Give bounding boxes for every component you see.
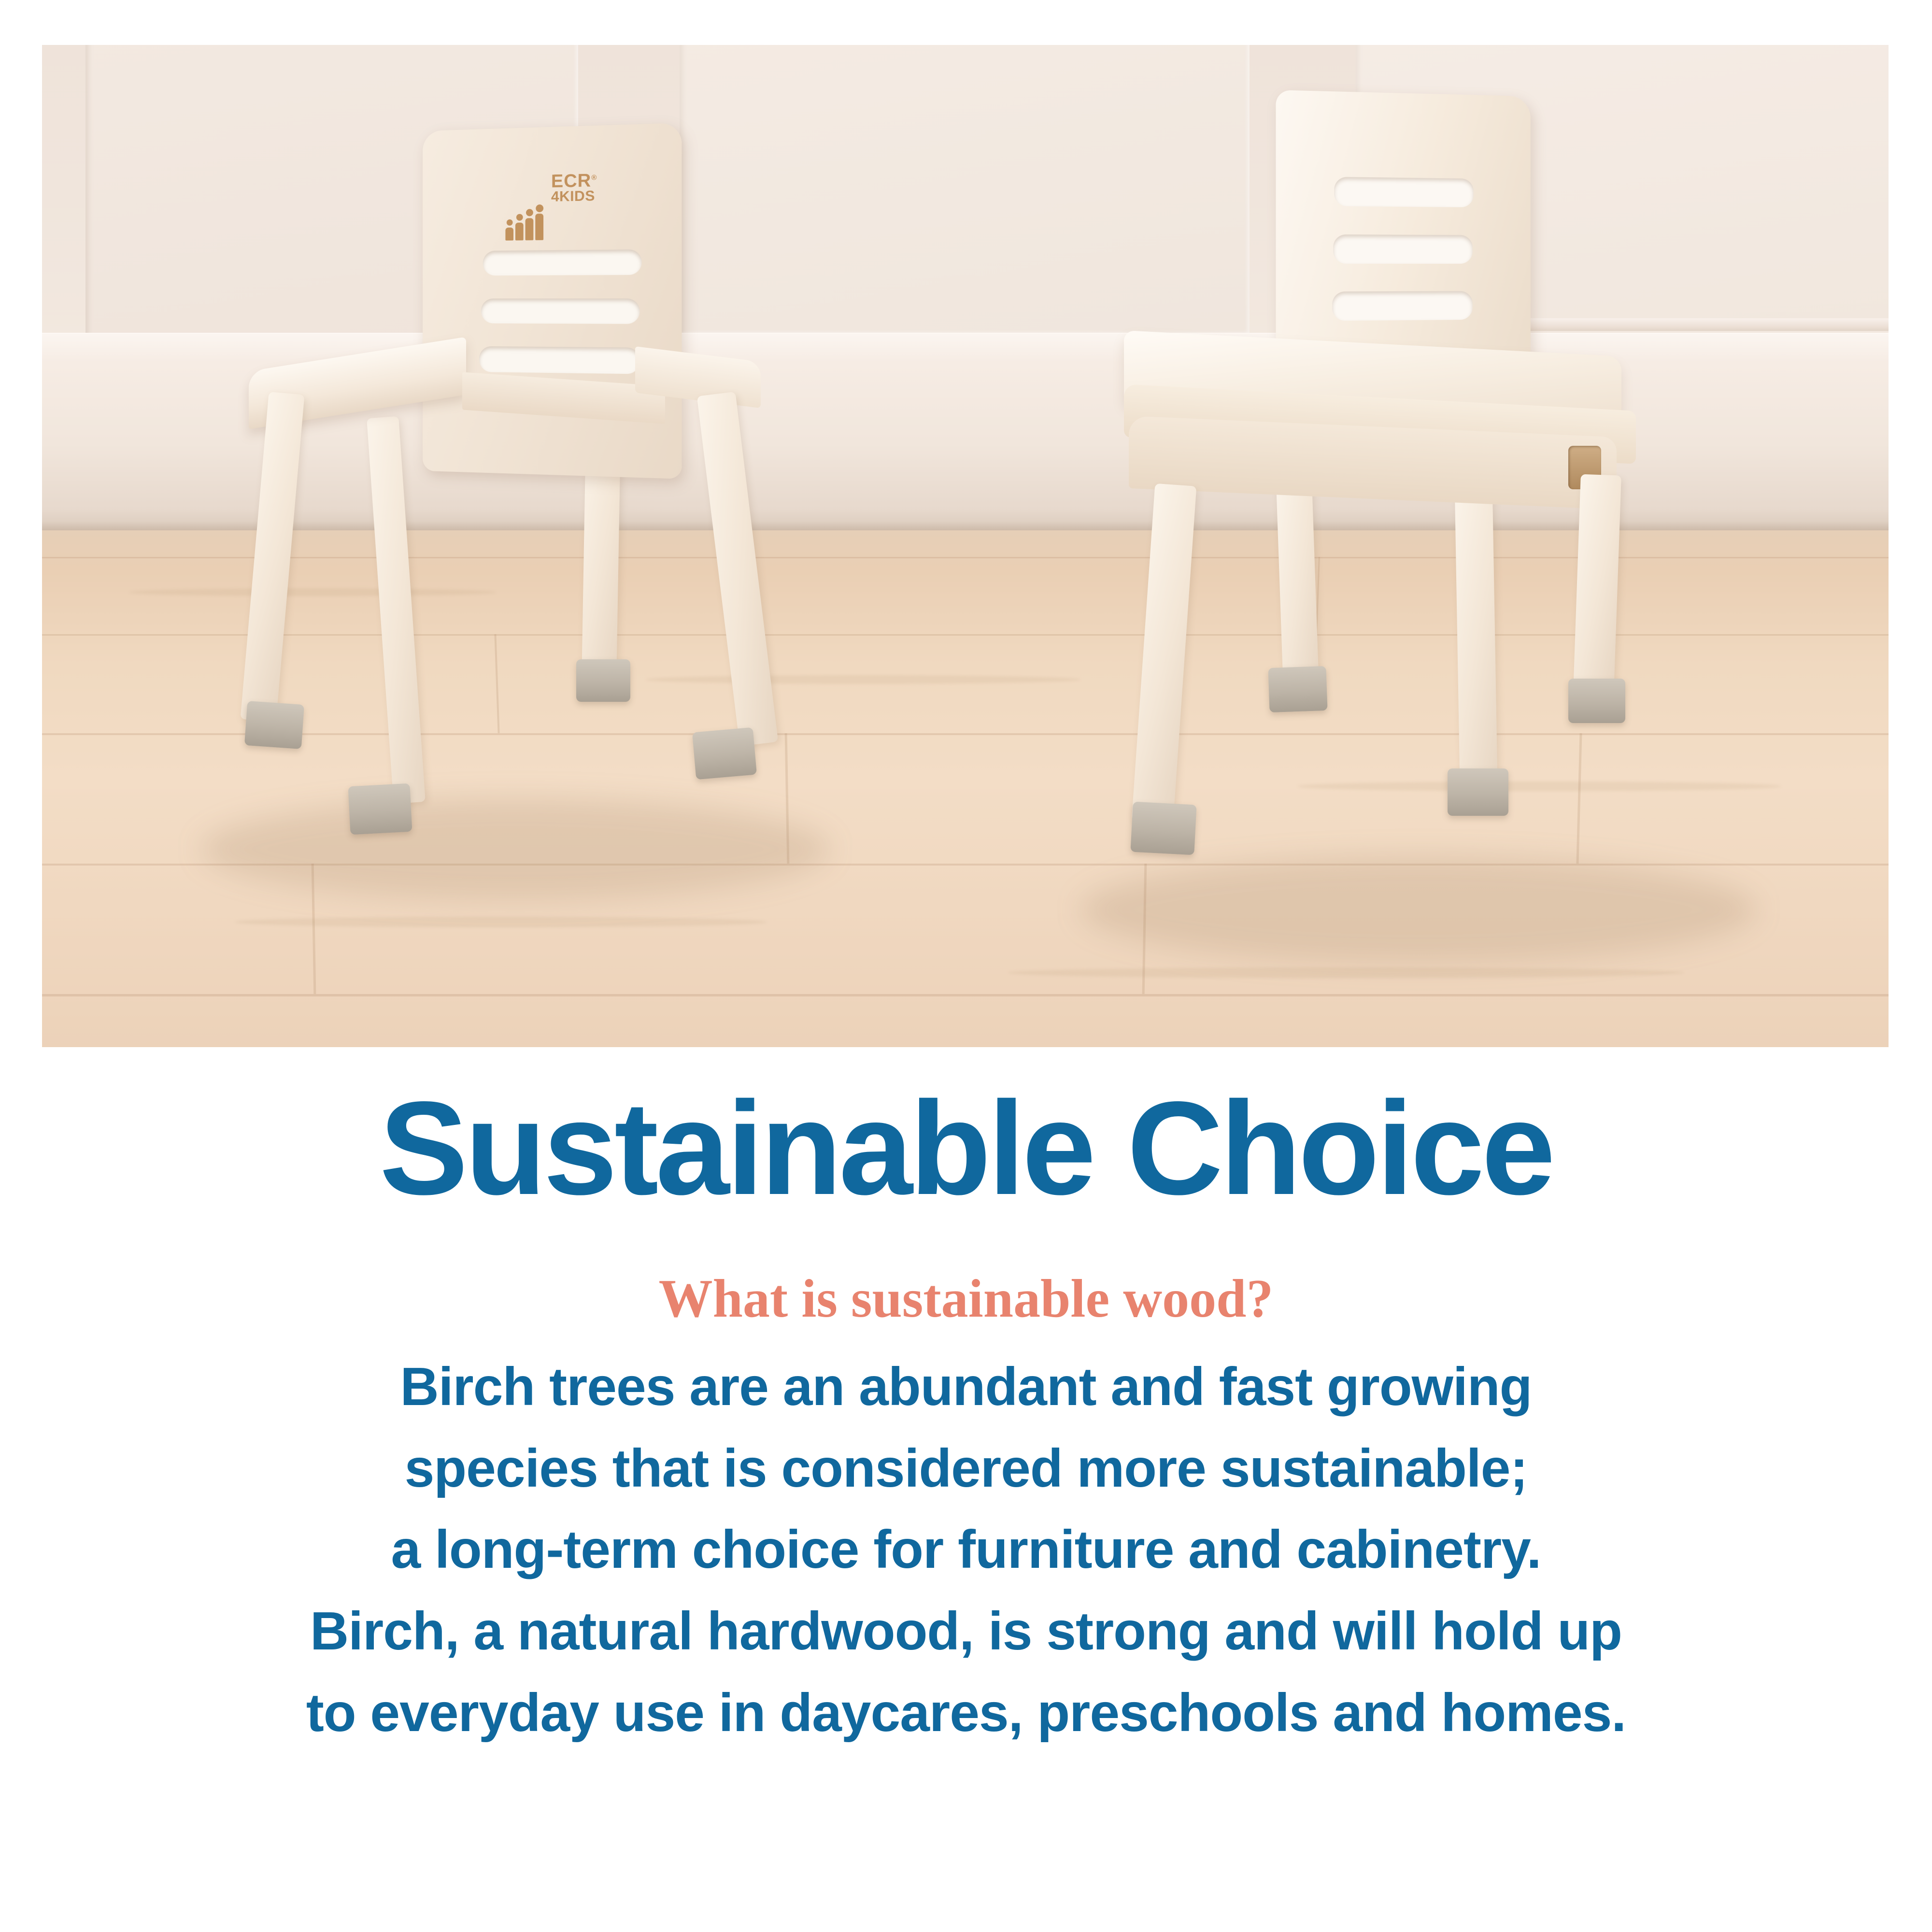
ecr4kids-logo: ECR® 4KIDS bbox=[505, 172, 597, 205]
backrest-slot bbox=[483, 249, 642, 275]
body-line: species that is considered more sustaina… bbox=[0, 1428, 1932, 1509]
chair-leg-front-right bbox=[1573, 474, 1621, 693]
chair-foot-cap bbox=[1268, 666, 1327, 712]
chair-foot-cap bbox=[1568, 679, 1625, 723]
wood-grain bbox=[1008, 967, 1684, 978]
text-block: Sustainable Choice What is sustainable w… bbox=[0, 1082, 1932, 1754]
ecr4kids-wordmark: ECR® 4KIDS bbox=[551, 172, 597, 204]
chair-foot-cap bbox=[692, 727, 757, 780]
chair-leg-back-left bbox=[1276, 474, 1319, 683]
chair-leg-front-left bbox=[1132, 483, 1197, 824]
chair-foot-cap bbox=[348, 783, 412, 835]
chair-foot-cap bbox=[1448, 768, 1508, 816]
body-line: a long-term choice for furniture and cab… bbox=[0, 1509, 1932, 1591]
floor-plank-seam bbox=[42, 994, 1889, 996]
subheading: What is sustainable wood? bbox=[0, 1272, 1932, 1326]
chair-leg-front-left bbox=[241, 392, 305, 722]
chair-right bbox=[1124, 59, 1752, 938]
page-title: Sustainable Choice bbox=[0, 1082, 1932, 1215]
backrest-slot bbox=[1334, 177, 1474, 207]
chair-leg-front-right bbox=[697, 392, 778, 746]
marketing-card: ECR® 4KIDS bbox=[0, 0, 1932, 1932]
logo-line-4kids: 4KIDS bbox=[551, 189, 597, 204]
chair-foot-cap bbox=[576, 659, 630, 702]
ecr4kids-figures-icon bbox=[505, 204, 543, 205]
chair-backrest: ECR® 4KIDS bbox=[423, 123, 682, 479]
chair-foot-cap bbox=[244, 701, 304, 749]
product-photo: ECR® 4KIDS bbox=[42, 45, 1889, 1047]
chair-foot-cap bbox=[1130, 802, 1196, 855]
chair-leg-back-right bbox=[1455, 479, 1498, 784]
backrest-slot bbox=[1332, 291, 1473, 321]
backrest-slot bbox=[481, 298, 640, 324]
backrest-slot bbox=[479, 346, 640, 374]
logo-line-ecr: ECR® bbox=[551, 172, 597, 190]
chair-left: ECR® 4KIDS bbox=[235, 84, 839, 953]
body-copy: Birch trees are an abundant and fast gro… bbox=[0, 1346, 1932, 1754]
backrest-slot bbox=[1333, 234, 1473, 264]
body-line: Birch trees are an abundant and fast gro… bbox=[0, 1346, 1932, 1428]
body-line: to everyday use in daycares, preschools … bbox=[0, 1672, 1932, 1754]
body-line: Birch, a natural hardwood, is strong and… bbox=[0, 1591, 1932, 1672]
chair-leg-back-left bbox=[367, 416, 426, 804]
